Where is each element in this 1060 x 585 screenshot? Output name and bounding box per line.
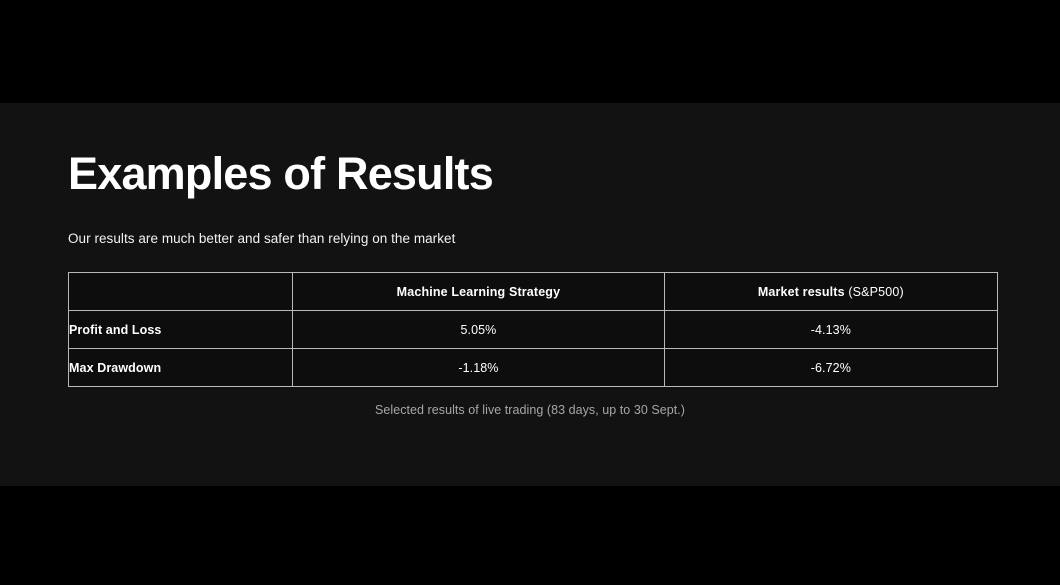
slide-frame: Examples of Results Our results are much… <box>0 0 1060 585</box>
column-header-market: Market results (S&P500) <box>664 273 997 311</box>
page-title: Examples of Results <box>68 151 493 196</box>
results-table: Machine Learning Strategy Market results… <box>68 272 998 387</box>
table-row: Max Drawdown -1.18% -6.72% <box>69 349 998 387</box>
row-label-profit-and-loss: Profit and Loss <box>69 311 293 349</box>
page-subtitle: Our results are much better and safer th… <box>68 231 455 246</box>
table-body: Profit and Loss 5.05% -4.13% Max Drawdow… <box>69 311 998 387</box>
column-header-market-main: Market results <box>758 285 845 299</box>
row-label-max-drawdown: Max Drawdown <box>69 349 293 387</box>
column-header-market-suffix: (S&P500) <box>845 285 904 299</box>
value-max-drawdown-strategy: -1.18% <box>293 349 664 387</box>
column-header-strategy: Machine Learning Strategy <box>293 273 664 311</box>
letterbox-top <box>0 0 1060 103</box>
value-max-drawdown-market: -6.72% <box>664 349 997 387</box>
results-table-container: Machine Learning Strategy Market results… <box>68 272 998 387</box>
value-profit-and-loss-market: -4.13% <box>664 311 997 349</box>
column-header-metric <box>69 273 293 311</box>
table-header-row: Machine Learning Strategy Market results… <box>69 273 998 311</box>
letterbox-bottom <box>0 486 1060 585</box>
table-caption: Selected results of live trading (83 day… <box>0 403 1060 417</box>
table-row: Profit and Loss 5.05% -4.13% <box>69 311 998 349</box>
slide-content: Examples of Results Our results are much… <box>0 103 1060 486</box>
value-profit-and-loss-strategy: 5.05% <box>293 311 664 349</box>
table-header: Machine Learning Strategy Market results… <box>69 273 998 311</box>
